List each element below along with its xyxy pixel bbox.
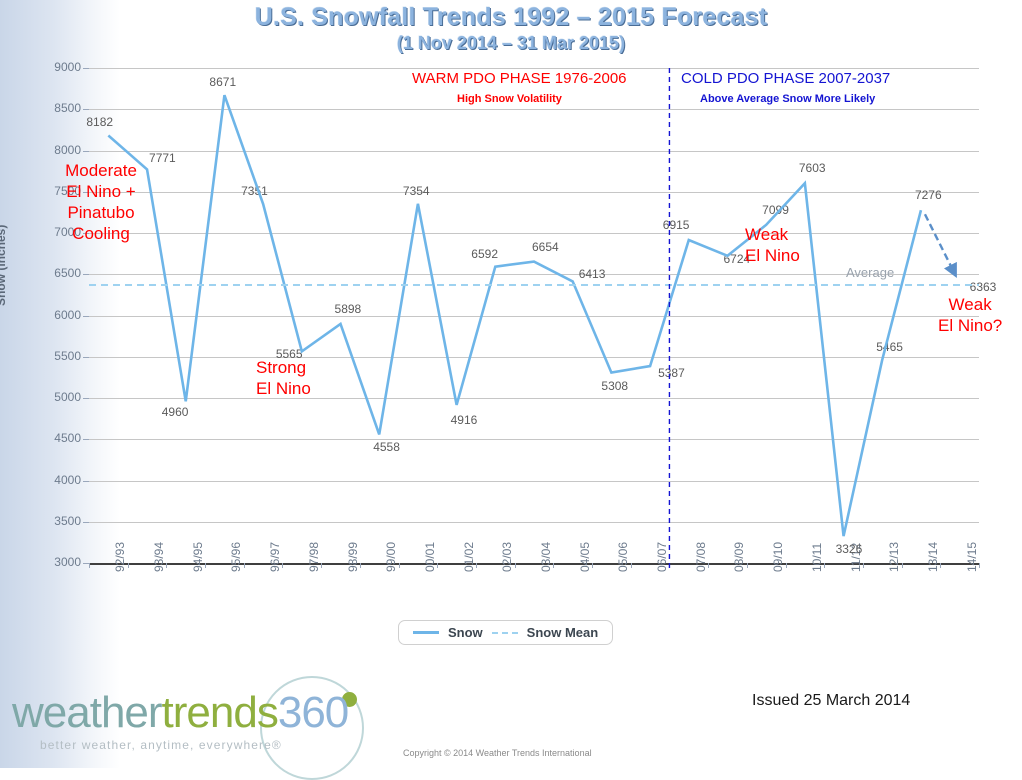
x-axis-tick — [515, 563, 516, 568]
x-axis-tick — [166, 563, 167, 568]
annotation-weak-elnino: Weak El Nino — [745, 224, 800, 266]
x-axis-tick — [592, 563, 593, 568]
x-axis-tick — [631, 563, 632, 568]
data-point-label: 5465 — [876, 340, 903, 354]
legend-snow-swatch — [413, 631, 439, 634]
data-point-label: 7354 — [403, 184, 430, 198]
gridline — [89, 481, 979, 482]
x-axis-tick-label: 98/99 — [346, 542, 360, 572]
data-point-label: 6363 — [970, 280, 997, 294]
logo-word-part2: trends — [162, 688, 278, 737]
x-axis-tick-label: 94/95 — [191, 542, 205, 572]
average-label: Average — [846, 265, 894, 280]
x-axis-tick — [669, 563, 670, 568]
gridline — [89, 151, 979, 152]
data-point-label: 6592 — [471, 247, 498, 261]
annotation-weak-elnino-forecast: Weak El Nino? — [938, 294, 1002, 336]
x-axis-tick-label: 06/07 — [655, 542, 669, 572]
gridline — [89, 316, 979, 317]
data-point-label: 7099 — [762, 203, 789, 217]
annotation-strong-elnino: Strong El Nino — [256, 357, 311, 399]
y-axis-tick-label: 5500 — [33, 349, 81, 363]
y-axis-title: Snow (inches) — [0, 225, 8, 306]
x-axis-tick-label: 02/03 — [500, 542, 514, 572]
x-axis-tick-label: 09/10 — [771, 542, 785, 572]
data-point-label: 7771 — [149, 151, 176, 165]
cold-pdo-title: COLD PDO PHASE 2007-2037 — [681, 70, 890, 87]
x-axis-tick-label: 00/01 — [423, 542, 437, 572]
gridline — [89, 522, 979, 523]
y-axis-tick-label: 3500 — [33, 514, 81, 528]
data-point-label: 4960 — [162, 405, 189, 419]
data-point-label: 5387 — [658, 366, 685, 380]
gridline — [89, 233, 979, 234]
x-axis-tick — [902, 563, 903, 568]
x-axis-tick — [747, 563, 748, 568]
data-point-label: 4916 — [451, 413, 478, 427]
logo-tagline: better weather, anytime, everywhere® — [40, 738, 282, 752]
annotation-moderate-elnino: Moderate El Nino + Pinatubo Cooling — [53, 160, 149, 244]
x-axis-tick — [553, 563, 554, 568]
x-axis-tick-label: 96/97 — [268, 542, 282, 572]
y-axis-tick-label: 8000 — [33, 143, 81, 157]
logo-word-part3: 360 — [278, 688, 348, 737]
x-axis-tick-label: 92/93 — [113, 542, 127, 572]
x-axis-tick-label: 03/04 — [539, 542, 553, 572]
data-point-label: 7603 — [799, 161, 826, 175]
x-axis-tick — [282, 563, 283, 568]
chart-legend: Snow Snow Mean — [398, 620, 613, 645]
data-point-label: 3326 — [836, 542, 863, 556]
legend-snow-label: Snow — [448, 625, 483, 640]
warm-pdo-subtitle: High Snow Volatility — [457, 93, 562, 105]
chart-plot: Snow (inches) 30003500400045005000550060… — [0, 56, 1022, 568]
y-axis-tick-label: 6500 — [33, 266, 81, 280]
x-axis-tick-label: 97/98 — [307, 542, 321, 572]
x-axis-tick — [437, 563, 438, 568]
x-axis-tick — [360, 563, 361, 568]
x-axis-tick — [708, 563, 709, 568]
x-axis-tick — [786, 563, 787, 568]
x-axis-tick-label: 08/09 — [732, 542, 746, 572]
legend-snow-mean-label: Snow Mean — [527, 625, 599, 640]
y-axis-tick-label: 6000 — [33, 308, 81, 322]
issued-date: Issued 25 March 2014 — [752, 692, 910, 710]
x-axis-tick-label: 10/11 — [810, 543, 824, 572]
y-axis-tick-label: 8500 — [33, 101, 81, 115]
y-axis-tick-label: 4500 — [33, 431, 81, 445]
x-axis-tick-label: 12/13 — [887, 542, 901, 572]
logo-word-part1: weather — [12, 688, 162, 737]
data-point-label: 6654 — [532, 240, 559, 254]
plot-area — [89, 68, 979, 563]
logo-wordmark: weathertrends360 — [12, 688, 348, 738]
warm-pdo-title: WARM PDO PHASE 1976-2006 — [412, 70, 627, 87]
x-axis-tick — [399, 563, 400, 568]
x-axis-tick — [476, 563, 477, 568]
title-block: U.S. Snowfall Trends 1992 – 2015 Forecas… — [0, 2, 1022, 54]
x-axis-tick — [940, 563, 941, 568]
page-subtitle: (1 Nov 2014 – 31 Mar 2015) — [0, 32, 1022, 54]
x-axis-tick — [89, 563, 90, 568]
x-axis-tick — [863, 563, 864, 568]
x-axis-tick-label: 01/02 — [462, 542, 476, 572]
x-axis-line — [89, 563, 979, 565]
data-point-label: 7276 — [915, 188, 942, 202]
data-point-label: 5308 — [601, 379, 628, 393]
gridline — [89, 398, 979, 399]
x-axis-tick-label: 05/06 — [616, 542, 630, 572]
y-axis-tick-label: 5000 — [33, 390, 81, 404]
y-axis-tick-label: 3000 — [33, 555, 81, 569]
gridline — [89, 109, 979, 110]
legend-snow-mean-swatch — [492, 632, 518, 634]
data-point-label: 8182 — [86, 115, 113, 129]
gridline — [89, 439, 979, 440]
x-axis-tick-label: 14/15 — [965, 542, 979, 572]
x-axis-tick-label: 95/96 — [229, 542, 243, 572]
gridline — [89, 192, 979, 193]
y-axis-tick-label: 4000 — [33, 473, 81, 487]
page-title: U.S. Snowfall Trends 1992 – 2015 Forecas… — [0, 2, 1022, 32]
data-point-label: 4558 — [373, 440, 400, 454]
gridline — [89, 68, 979, 69]
data-point-label: 8671 — [209, 75, 236, 89]
gridline — [89, 357, 979, 358]
x-axis-tick-label: 13/14 — [926, 542, 940, 572]
cold-pdo-subtitle: Above Average Snow More Likely — [700, 93, 875, 105]
data-point-label: 7351 — [241, 184, 268, 198]
x-axis-tick-label: 99/00 — [384, 542, 398, 572]
x-axis-tick-label: 93/94 — [152, 542, 166, 572]
x-axis-tick — [979, 563, 980, 568]
x-axis-tick — [824, 563, 825, 568]
x-axis-tick-label: 04/05 — [578, 542, 592, 572]
data-point-label: 6915 — [663, 218, 690, 232]
x-axis-tick — [244, 563, 245, 568]
data-point-label: 5898 — [335, 302, 362, 316]
data-point-label: 6413 — [579, 267, 606, 281]
x-axis-tick — [205, 563, 206, 568]
x-axis-tick — [321, 563, 322, 568]
x-axis-tick-label: 07/08 — [694, 542, 708, 572]
copyright-notice: Copyright © 2014 Weather Trends Internat… — [403, 748, 592, 758]
weathertrends360-logo: weathertrends360 better weather, anytime… — [8, 676, 378, 762]
x-axis-tick — [128, 563, 129, 568]
y-axis-tick-label: 9000 — [33, 60, 81, 74]
